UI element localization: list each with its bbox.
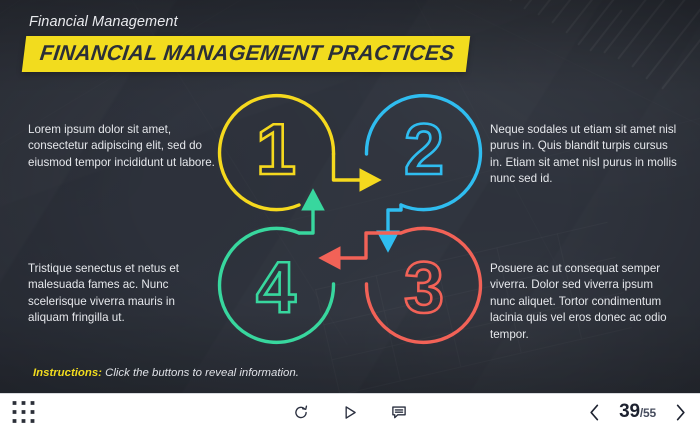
page-total: /55	[640, 406, 656, 420]
page-counter: 39/55	[619, 401, 656, 423]
play-icon[interactable]	[342, 404, 359, 421]
slide: Financial Management FINANCIAL MANAGEMEN…	[0, 0, 700, 430]
chevron-right-icon[interactable]	[673, 403, 688, 422]
cycle-step-1-number: 1	[256, 110, 296, 190]
cycle-step-2-number: 2	[404, 110, 444, 190]
instructions-label: Instructions:	[33, 367, 102, 379]
page-current: 39	[619, 401, 640, 422]
comment-icon[interactable]	[391, 404, 408, 421]
cycle-step-3[interactable]: 3	[323, 228, 480, 342]
instructions-text: Click the buttons to reveal information.	[102, 367, 299, 379]
text-block-top-left: Lorem ipsum dolor sit amet, consectetur …	[28, 122, 216, 171]
cycle-diagram: 1 2 3 4	[215, 88, 485, 350]
chevron-left-icon[interactable]	[587, 403, 602, 422]
grid-icon[interactable]	[11, 400, 36, 425]
slide-kicker: Financial Management	[29, 14, 178, 30]
cycle-step-3-number: 3	[404, 248, 444, 328]
cycle-step-2[interactable]: 2	[366, 96, 480, 248]
navigation-bar: 39/55	[0, 393, 700, 430]
cycle-step-1[interactable]: 1	[220, 96, 377, 210]
text-block-top-right: Neque sodales ut etiam sit amet nisl pur…	[490, 122, 680, 188]
playback-controls	[293, 404, 408, 421]
cycle-step-4[interactable]: 4	[220, 193, 334, 342]
cycle-step-4-number: 4	[256, 248, 296, 328]
text-block-bottom-left: Tristique senectus et netus et malesuada…	[28, 261, 216, 327]
instructions: Instructions: Click the buttons to revea…	[33, 367, 299, 379]
text-block-bottom-right: Posuere ac ut consequat semper viverra. …	[490, 261, 680, 343]
replay-icon[interactable]	[293, 404, 310, 421]
page-title-banner: FINANCIAL MANAGEMENT PRACTICES	[22, 36, 471, 72]
pagination: 39/55	[587, 401, 688, 423]
page-title: FINANCIAL MANAGEMENT PRACTICES	[39, 41, 456, 66]
